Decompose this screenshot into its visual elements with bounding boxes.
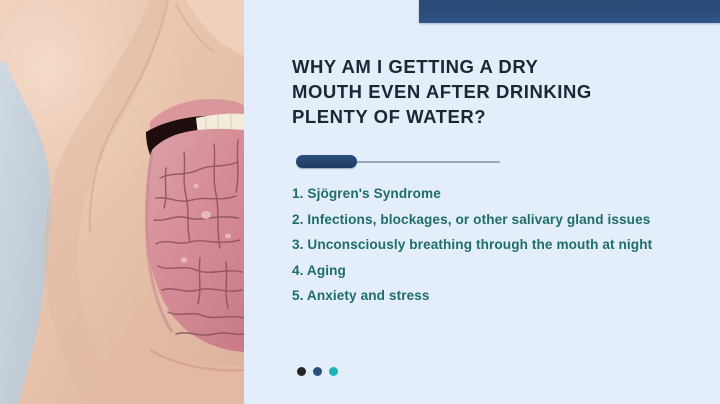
- slide-root: WHY AM I GETTING A DRY MOUTH EVEN AFTER …: [0, 0, 720, 404]
- dot-dark-icon[interactable]: [297, 367, 306, 376]
- dry-tongue-photo-illustration: [0, 0, 244, 404]
- hero-photo: [0, 0, 244, 404]
- slide-indicator-dots[interactable]: [297, 367, 338, 376]
- dot-teal-icon[interactable]: [329, 367, 338, 376]
- content-column: WHY AM I GETTING A DRY MOUTH EVEN AFTER …: [292, 0, 692, 404]
- list-item: 3. Unconsciously breathing through the m…: [292, 232, 684, 258]
- slide-progress-bar[interactable]: [294, 155, 500, 169]
- reasons-list: 1. Sjögren's Syndrome 2. Infections, blo…: [292, 181, 684, 309]
- list-item: 1. Sjögren's Syndrome: [292, 181, 684, 207]
- list-item: 2. Infections, blockages, or other saliv…: [292, 207, 684, 233]
- dot-navy-icon[interactable]: [313, 367, 322, 376]
- progress-fill: [296, 155, 357, 168]
- list-item: 4. Aging: [292, 258, 684, 284]
- list-item: 5. Anxiety and stress: [292, 283, 684, 309]
- page-title: WHY AM I GETTING A DRY MOUTH EVEN AFTER …: [292, 54, 684, 129]
